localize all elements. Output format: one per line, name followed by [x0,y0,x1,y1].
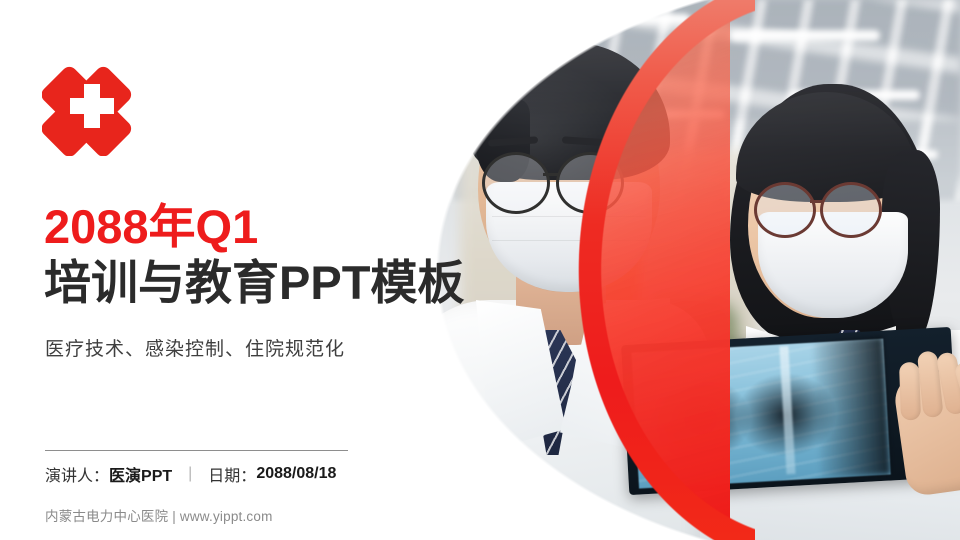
ceiling-light [730,30,880,41]
presentation-slide: 2088年Q1 培训与教育PPT模板 医疗技术、感染控制、住院规范化 演讲人：医… [0,0,960,540]
female-doctor-glasses-lens [820,182,882,238]
organization-and-site: 内蒙古电力中心医院 | www.yippt.com [45,505,273,525]
presenter-meta-row: 演讲人：医演PPT|日期：2088/08/18 [45,462,336,486]
date-label: 日期： [208,462,256,486]
presenter-value: 医演PPT [109,462,172,486]
slide-content: 2088年Q1 培训与教育PPT模板 医疗技术、感染控制、住院规范化 演讲人：医… [0,0,430,540]
male-doctor-glasses-bridge [543,173,559,176]
female-doctor-glasses-lens [754,182,816,238]
meta-divider [45,450,348,451]
female-doctor-glasses-bridge [810,200,822,203]
presenter-label: 演讲人： [45,462,109,486]
title-line-main: 培训与教育PPT模板 [44,258,464,308]
meta-separator: | [172,465,208,483]
date-value: 2088/08/18 [256,465,336,483]
finger [899,362,921,421]
slide-subtitle: 医疗技术、感染控制、住院规范化 [45,334,345,361]
title-line-year: 2088年Q1 [44,202,258,252]
male-doctor-glasses-lens [482,152,550,214]
ceiling-light [570,14,690,24]
doctors-photo [430,0,960,540]
xray-dark-edge [813,337,891,479]
hospital-red-cross-logo [42,56,142,156]
male-doctor-glasses-lens [556,152,624,214]
